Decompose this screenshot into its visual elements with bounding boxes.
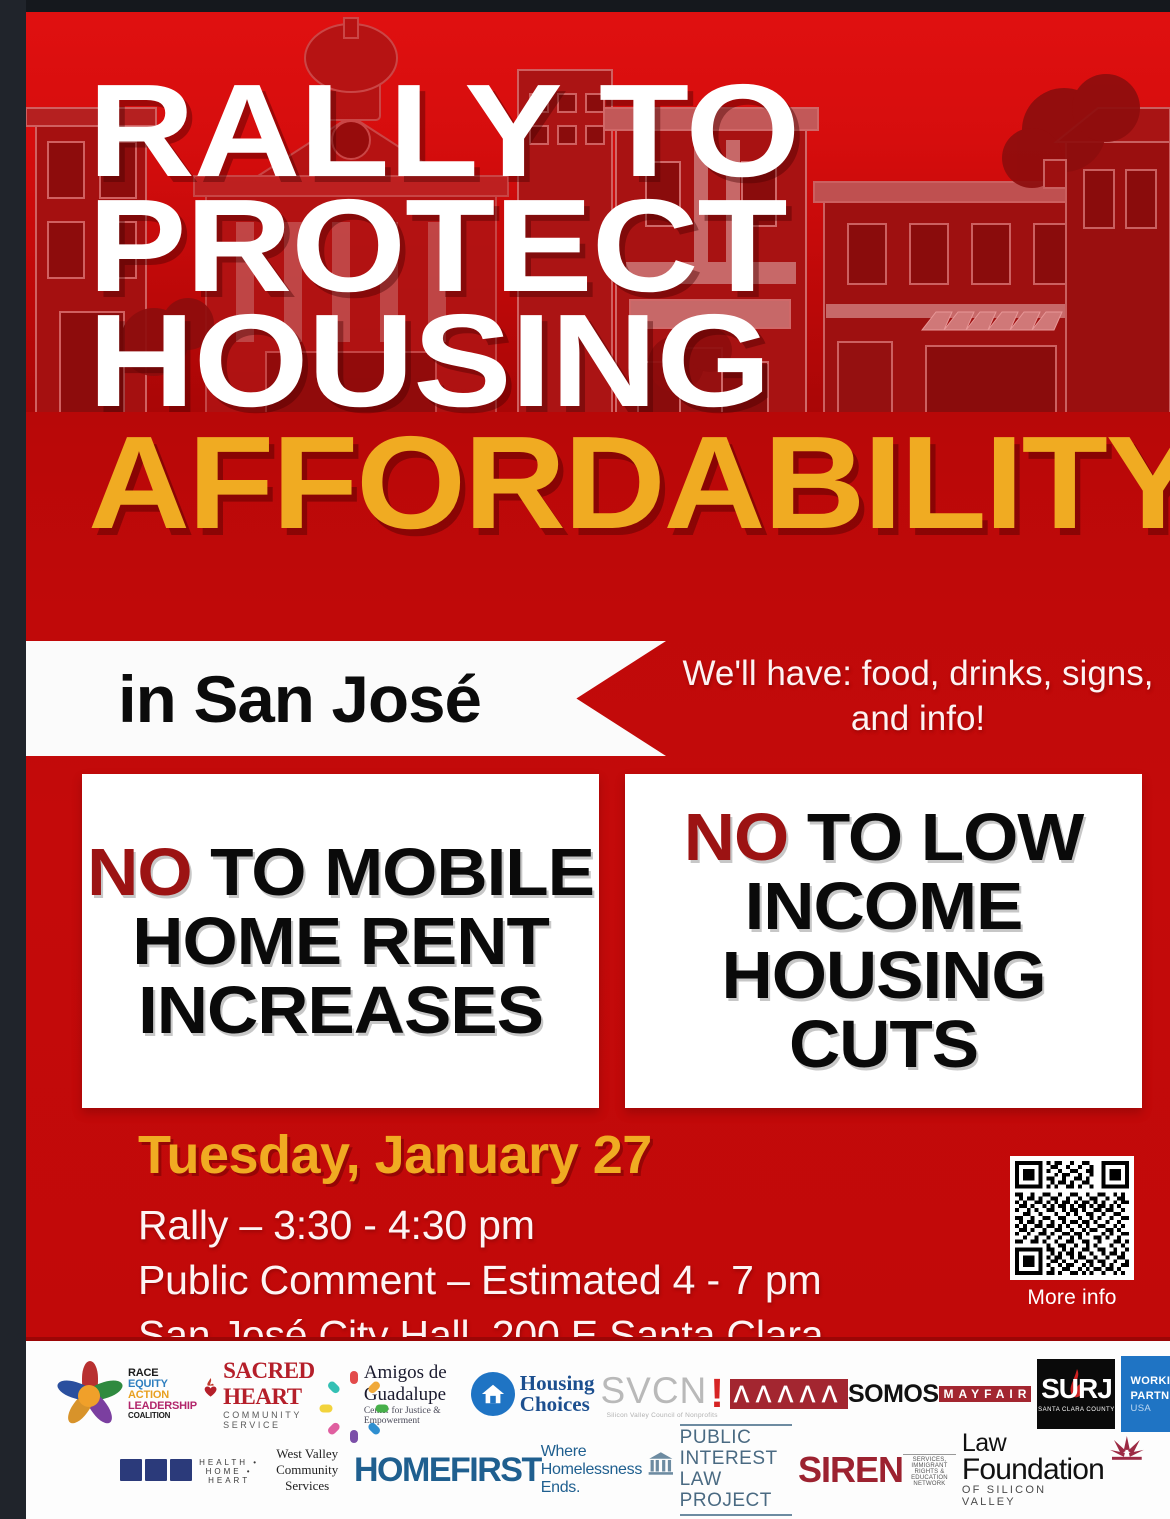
house-glyph xyxy=(480,1382,506,1406)
amenities-note: We'll have: food, drinks, signs, and inf… xyxy=(666,652,1170,742)
sunburst-icon xyxy=(1110,1436,1144,1462)
page-title: RALLY TO PROTECT HOUSING AFFORDABILITY xyxy=(88,74,1088,544)
logo-wordmark: RACE EQUITY ACTION LEADERSHIP COALITION xyxy=(128,1368,197,1420)
logo-line-2: Foundation xyxy=(962,1456,1104,1485)
logo-wordmark: SVCN ! xyxy=(600,1370,723,1412)
logo-svcn: SVCN ! Silicon Valley Council of Nonprof… xyxy=(600,1370,723,1419)
surj-badge: SURJ SANTA CLARA COUNTY xyxy=(1037,1359,1115,1429)
wpusa-badge: WORKING PARTNERSHIPS USA xyxy=(1121,1356,1170,1432)
courthouse-glyph xyxy=(648,1451,674,1475)
demand-no-word: NO xyxy=(87,835,191,910)
demand-text: NO TO LOW INCOME HOUSING CUTS xyxy=(620,803,1147,1079)
logo-subtitle: Silicon Valley Council of Nonprofits xyxy=(600,1412,723,1419)
event-detail-rally-time: Rally – 3:30 - 4:30 pm xyxy=(138,1198,958,1253)
exclamation-icon: ! xyxy=(710,1375,724,1412)
heart-flame-icon xyxy=(203,1378,218,1410)
logo-title: SACRED HEART xyxy=(223,1358,325,1410)
demand-rest-text: TO MOBILE HOME RENT INCREASES xyxy=(132,835,594,1048)
logo-title-2: Choices xyxy=(520,1394,595,1415)
logo-title: SURJ xyxy=(1041,1375,1112,1403)
qr-code-matrix xyxy=(1015,1161,1129,1275)
qr-code-label: More info xyxy=(1004,1286,1140,1310)
flower-center xyxy=(78,1385,100,1407)
logo-wordmark: Amigos de Guadalupe Center for Justice &… xyxy=(364,1362,465,1426)
logo-subtitle: Where Homelessness Ends. xyxy=(541,1443,642,1497)
somos-figures-icon: ᐱᐱᐱᐱᐱ xyxy=(730,1379,848,1409)
headline-line-3: HOUSING xyxy=(88,304,1170,419)
health-home-heart-icons xyxy=(120,1459,192,1481)
flower-icon xyxy=(52,1357,126,1431)
logo-wordmark: Housing Choices xyxy=(520,1373,595,1415)
logo-sacred-heart-community-service: SACRED HEART COMMUNITY SERVICE xyxy=(203,1358,326,1430)
frame-top-strip xyxy=(0,0,1170,12)
demand-box-mobile-home-rent: NO TO MOBILE HOME RENT INCREASES xyxy=(82,774,599,1108)
logo-surj-santa-clara-county: SURJ SANTA CLARA COUNTY xyxy=(1037,1359,1115,1429)
event-details: Tuesday, January 27 Rally – 3:30 - 4:30 … xyxy=(138,1124,958,1363)
logo-siren: SIREN SERVICES, IMMIGRANT RIGHTS & EDUCA… xyxy=(798,1449,956,1491)
demand-text: NO TO MOBILE HOME RENT INCREASES xyxy=(77,838,604,1045)
poster-canvas: RALLY TO PROTECT HOUSING AFFORDABILITY i… xyxy=(26,12,1170,1519)
logo-race-equity-action-leadership-coalition: RACE EQUITY ACTION LEADERSHIP COALITION xyxy=(52,1357,197,1431)
logo-wordmark: PUBLIC INTEREST LAW PROJECT xyxy=(680,1424,792,1516)
rally-poster: RALLY TO PROTECT HOUSING AFFORDABILITY i… xyxy=(0,0,1170,1519)
logo-amigos-de-guadalupe: Amigos de Guadalupe Center for Justice &… xyxy=(331,1362,464,1426)
logo-line-2: PARTNERSHIPS xyxy=(1130,1389,1170,1404)
partner-logo-row-2: HEALTH • HOME • HEART West Valley Commun… xyxy=(52,1433,1144,1507)
logo-somos-mayfair: ᐱᐱᐱᐱᐱ SOMOS MAYFAIR xyxy=(730,1379,1031,1409)
logo-line-2: LAW PROJECT xyxy=(680,1470,792,1512)
logo-wordmark: Law Foundation OF SILICON VALLEY xyxy=(962,1432,1104,1508)
headline-accent-affordability: AFFORDABILITY xyxy=(88,422,1158,543)
logo-title: SIREN xyxy=(798,1449,903,1491)
frame-left-gutter xyxy=(0,0,26,1519)
courthouse-icon xyxy=(648,1451,674,1489)
city-banner: in San José xyxy=(26,641,666,756)
partner-logo-row-1: RACE EQUITY ACTION LEADERSHIP COALITION xyxy=(52,1355,1144,1433)
logo-title: SOMOS xyxy=(848,1381,939,1407)
heart-flame-glyph xyxy=(203,1378,218,1397)
logo-subtitle: COMMUNITY SERVICE xyxy=(223,1410,325,1430)
logo-title: West Valley Community Services xyxy=(266,1446,348,1494)
logo-line-1: WORKING xyxy=(1130,1374,1170,1389)
demand-no-word: NO xyxy=(684,800,788,875)
logo-line-3: OF SILICON VALLEY xyxy=(962,1484,1104,1508)
logo-subtitle: SERVICES, IMMIGRANT RIGHTS & EDUCATION N… xyxy=(903,1454,956,1487)
qr-code-image[interactable] xyxy=(1010,1156,1134,1280)
logo-wordmark: SACRED HEART COMMUNITY SERVICE xyxy=(223,1358,325,1430)
logo-working-partnerships-usa: WORKING PARTNERSHIPS USA xyxy=(1121,1356,1170,1432)
health-icon xyxy=(120,1459,142,1481)
logo-title-text: SIREN xyxy=(798,1449,903,1490)
city-banner-label: in San José xyxy=(118,661,481,737)
logo-law-foundation-of-silicon-valley: Law Foundation OF SILICON VALLEY xyxy=(962,1432,1144,1508)
logo-line-3: USA xyxy=(1130,1403,1170,1414)
logo-subtitle: MAYFAIR xyxy=(939,1386,1032,1402)
logo-title: Housing xyxy=(520,1373,595,1394)
partner-logo-panel: RACE EQUITY ACTION LEADERSHIP COALITION xyxy=(26,1337,1170,1519)
logo-tagline: HEALTH • HOME • HEART xyxy=(192,1458,267,1485)
logo-public-interest-law-project: PUBLIC INTEREST LAW PROJECT xyxy=(648,1424,792,1516)
logo-title: HOMEFIRST xyxy=(354,1454,541,1486)
logo-subtitle: SANTA CLARA COUNTY xyxy=(1038,1407,1115,1413)
logo-homefirst: HOMEFIRST Where Homelessness Ends. xyxy=(354,1443,642,1497)
event-date: Tuesday, January 27 xyxy=(138,1124,958,1186)
heart-icon xyxy=(170,1459,192,1481)
home-icon xyxy=(145,1459,167,1481)
logo-west-valley-community-services: HEALTH • HOME • HEART West Valley Commun… xyxy=(120,1446,348,1494)
logo-title: SVCN xyxy=(600,1370,707,1412)
logo-line: COALITION xyxy=(128,1412,197,1420)
qr-code-block[interactable]: More info xyxy=(1004,1156,1140,1310)
logo-housing-choices: Housing Choices xyxy=(471,1372,595,1416)
people-circle-icon xyxy=(331,1371,358,1417)
demand-boxes: NO TO MOBILE HOME RENT INCREASES NO TO L… xyxy=(82,774,1142,1108)
house-icon xyxy=(471,1372,515,1416)
event-detail-public-comment: Public Comment – Estimated 4 - 7 pm xyxy=(138,1253,958,1308)
logo-line-1: PUBLIC INTEREST xyxy=(680,1428,792,1470)
sunburst-glyph xyxy=(1110,1436,1144,1462)
demand-box-low-income-housing: NO TO LOW INCOME HOUSING CUTS xyxy=(625,774,1142,1108)
